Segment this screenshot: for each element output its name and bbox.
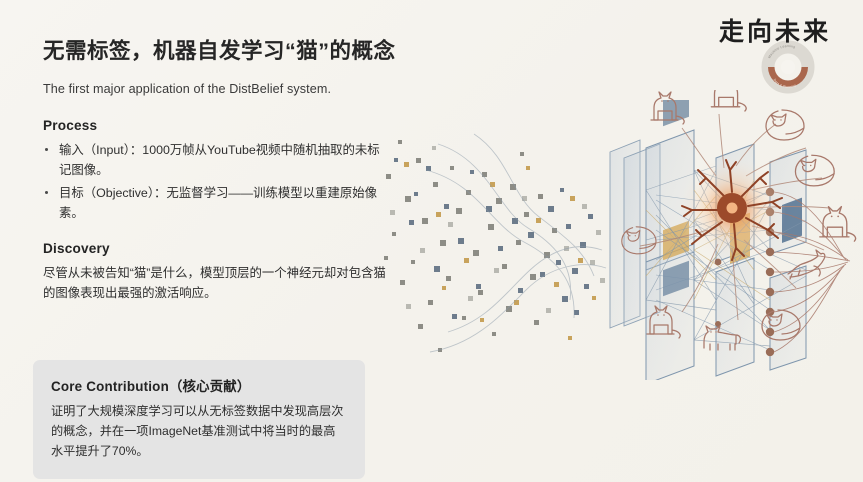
cat-icon-stretching xyxy=(788,250,825,279)
page-subtitle: The first major application of the DistB… xyxy=(43,82,388,96)
core-contribution-title: Core Contribution（核心贡献） xyxy=(51,375,347,395)
page-title: 无需标签，机器自发学习“猫”的概念 xyxy=(43,38,388,66)
process-bullet-list: 输入（Input）：1000万帧从YouTube视频中随机抽取的未标记图像。 目… xyxy=(43,140,388,223)
text-column: 无需标签，机器自发学习“猫”的概念 The first major applic… xyxy=(43,38,388,304)
cat-icon-sitting-right xyxy=(820,207,856,242)
cat-icon-sitting-top xyxy=(711,90,746,111)
brand-name: 走向未来 xyxy=(719,12,831,48)
section-heading-process: Process xyxy=(43,118,388,133)
brand-ring-icon: Machine Learning Data & Planning xyxy=(761,40,815,94)
cat-icon-sitting-left xyxy=(651,92,684,124)
discovery-body: 尽管从未被告知“猫”是什么，模型顶层的一个神经元却对包含猫的图像表现出最强的激活… xyxy=(43,263,388,303)
neuron-nucleus xyxy=(727,203,738,214)
cat-icon-curled-topright xyxy=(766,110,804,140)
cat-icon-sleeping-right xyxy=(795,155,834,186)
list-item: 输入（Input）：1000万帧从YouTube视频中随机抽取的未标记图像。 xyxy=(43,140,388,180)
pixel-data-cloud xyxy=(384,134,606,352)
cat-icon-standing-bottom xyxy=(704,326,740,350)
cat-icon-sitting-bottomleft xyxy=(647,306,680,338)
cat-neuron-cluster xyxy=(620,90,863,390)
neuron-canvas xyxy=(620,90,863,390)
cat-icon-curled-bottomright xyxy=(762,310,800,340)
section-heading-discovery: Discovery xyxy=(43,241,388,256)
list-item: 目标（Objective）：无监督学习——训练模型以重建原始像素。 xyxy=(43,183,388,223)
cat-icon-curled-left xyxy=(622,227,656,254)
core-contribution-card: Core Contribution（核心贡献） 证明了大规模深度学习可以从无标签… xyxy=(33,360,365,479)
brand-logo: 走向未来 Machine Learning Data & Planning xyxy=(713,6,849,90)
slide-root: 无需标签，机器自发学习“猫”的概念 The first major applic… xyxy=(0,0,863,482)
core-contribution-body: 证明了大规模深度学习可以从无标签数据中发现高层次的概念，并在一项ImageNet… xyxy=(51,402,347,461)
